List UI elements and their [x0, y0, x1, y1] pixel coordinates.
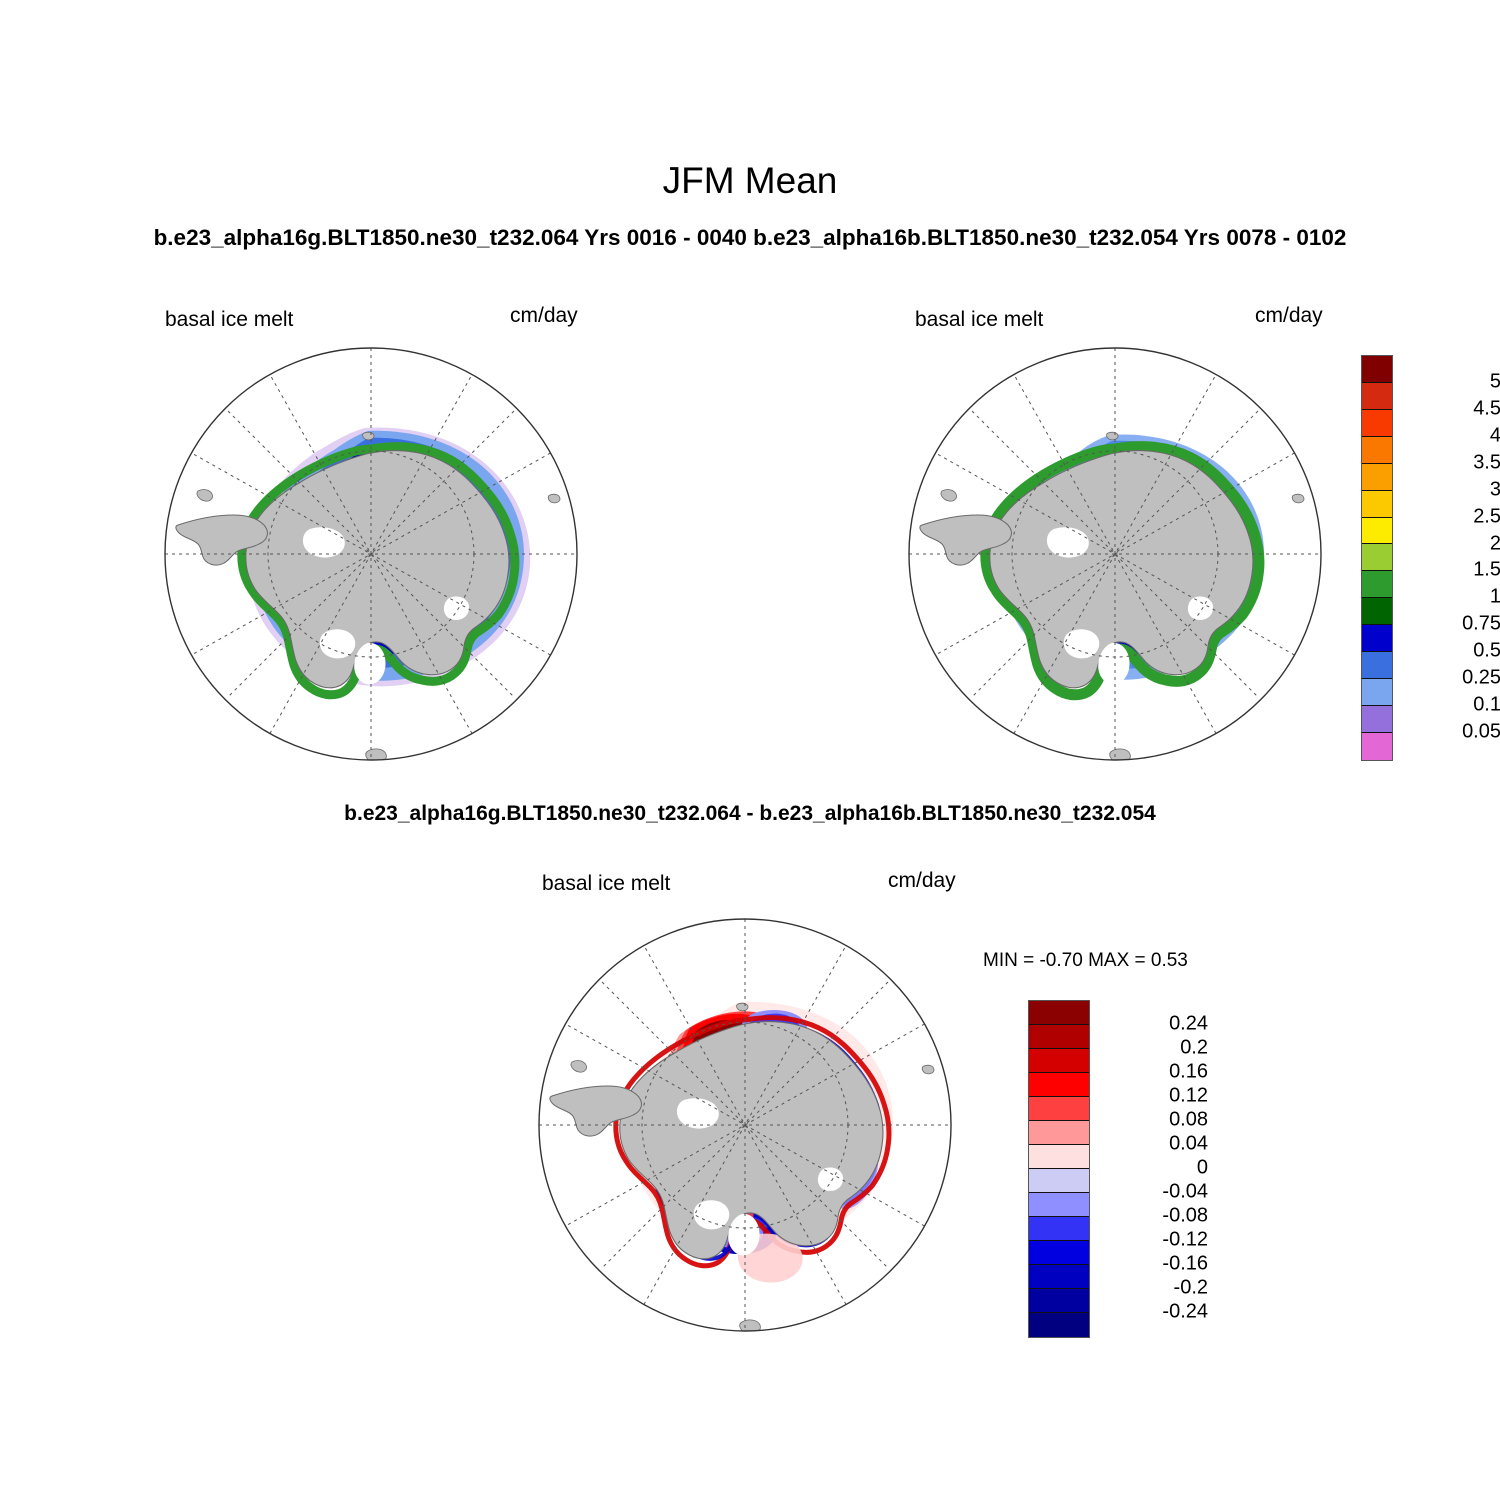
colorbar-difference: 0.240.20.160.120.080.040-0.04-0.08-0.12-…	[1028, 1000, 1208, 1338]
colorbar-main-band-13	[1362, 706, 1392, 733]
colorbar-difference-band-9	[1029, 1217, 1089, 1241]
colorbar-difference-tick-7: -0.04	[1162, 1181, 1208, 1204]
panel-right-variable-label: basal ice melt	[915, 308, 1043, 332]
colorbar-main-bands	[1361, 355, 1393, 761]
colorbar-main-tick-1: 4.5	[1473, 397, 1500, 420]
colorbar-main-band-4	[1362, 464, 1392, 491]
colorbar-main-band-9	[1362, 598, 1392, 625]
colorbar-difference-band-10	[1029, 1241, 1089, 1265]
colorbar-main-band-14	[1362, 733, 1392, 760]
colorbar-difference-band-13	[1029, 1313, 1089, 1337]
colorbar-difference-band-7	[1029, 1169, 1089, 1193]
colorbar-main-band-3	[1362, 437, 1392, 464]
colorbar-difference-band-2	[1029, 1049, 1089, 1073]
map-left	[160, 343, 584, 767]
colorbar-main-band-2	[1362, 410, 1392, 437]
colorbar-main-tick-3: 3.5	[1473, 451, 1500, 474]
colorbar-difference-tick-10: -0.16	[1162, 1253, 1208, 1276]
panel-left-units-label: cm/day	[510, 304, 578, 328]
panel-difference-variable-label: basal ice melt	[542, 872, 670, 896]
colorbar-difference-band-3	[1029, 1073, 1089, 1097]
colorbar-main-band-8	[1362, 571, 1392, 598]
colorbar-main-tick-6: 2	[1490, 532, 1500, 555]
colorbar-main-tick-13: 0.05	[1462, 721, 1500, 744]
colorbar-main-tick-9: 0.75	[1462, 613, 1500, 636]
colorbar-difference-band-4	[1029, 1097, 1089, 1121]
colorbar-main-tick-4: 3	[1490, 478, 1500, 501]
colorbar-difference-tick-12: -0.24	[1162, 1301, 1208, 1324]
colorbar-main-band-6	[1362, 518, 1392, 545]
colorbar-difference-band-5	[1029, 1121, 1089, 1145]
colorbar-difference-ticks: 0.240.20.160.120.080.040-0.04-0.08-0.12-…	[1100, 1000, 1208, 1338]
page-title: JFM Mean	[0, 160, 1500, 202]
colorbar-difference-bands	[1028, 1000, 1090, 1338]
panel-difference-units-label: cm/day	[888, 869, 956, 893]
colorbar-main-tick-2: 4	[1490, 424, 1500, 447]
case-subtitle: b.e23_alpha16g.BLT1850.ne30_t232.064 Yrs…	[0, 225, 1500, 251]
colorbar-difference-tick-2: 0.16	[1169, 1061, 1208, 1084]
colorbar-difference-tick-1: 0.2	[1180, 1037, 1208, 1060]
colorbar-difference-band-12	[1029, 1289, 1089, 1313]
colorbar-main-tick-12: 0.1	[1473, 694, 1500, 717]
colorbar-difference-tick-4: 0.08	[1169, 1109, 1208, 1132]
map-right	[904, 343, 1328, 767]
difference-minmax-label: MIN = -0.70 MAX = 0.53	[983, 950, 1188, 972]
colorbar-main-tick-5: 2.5	[1473, 505, 1500, 528]
colorbar-main: 54.543.532.521.510.750.50.250.10.05	[1361, 355, 1500, 761]
map-difference	[534, 914, 958, 1338]
colorbar-main-band-11	[1362, 652, 1392, 679]
panel-left-variable-label: basal ice melt	[165, 308, 293, 332]
colorbar-main-band-12	[1362, 679, 1392, 706]
colorbar-main-tick-8: 1	[1490, 586, 1500, 609]
colorbar-main-band-1	[1362, 383, 1392, 410]
colorbar-main-band-10	[1362, 625, 1392, 652]
colorbar-difference-band-11	[1029, 1265, 1089, 1289]
colorbar-difference-tick-6: 0	[1197, 1157, 1208, 1180]
colorbar-difference-band-6	[1029, 1145, 1089, 1169]
colorbar-main-tick-0: 5	[1490, 370, 1500, 393]
colorbar-main-tick-10: 0.5	[1473, 640, 1500, 663]
panel-right-units-label: cm/day	[1255, 304, 1323, 328]
colorbar-difference-tick-5: 0.04	[1169, 1133, 1208, 1156]
colorbar-main-tick-11: 0.25	[1462, 667, 1500, 690]
colorbar-difference-band-8	[1029, 1193, 1089, 1217]
colorbar-difference-tick-9: -0.12	[1162, 1229, 1208, 1252]
colorbar-difference-tick-11: -0.2	[1174, 1277, 1208, 1300]
colorbar-main-ticks: 54.543.532.521.510.750.50.250.10.05	[1401, 355, 1500, 761]
colorbar-difference-band-1	[1029, 1025, 1089, 1049]
colorbar-main-band-7	[1362, 544, 1392, 571]
colorbar-difference-band-0	[1029, 1001, 1089, 1025]
colorbar-difference-tick-0: 0.24	[1169, 1013, 1208, 1036]
colorbar-difference-tick-8: -0.08	[1162, 1205, 1208, 1228]
difference-title: b.e23_alpha16g.BLT1850.ne30_t232.064 - b…	[0, 802, 1500, 826]
colorbar-difference-tick-3: 0.12	[1169, 1085, 1208, 1108]
colorbar-main-band-0	[1362, 356, 1392, 383]
colorbar-main-band-5	[1362, 491, 1392, 518]
figure-canvas: JFM Mean b.e23_alpha16g.BLT1850.ne30_t23…	[0, 0, 1500, 1500]
colorbar-main-tick-7: 1.5	[1473, 559, 1500, 582]
